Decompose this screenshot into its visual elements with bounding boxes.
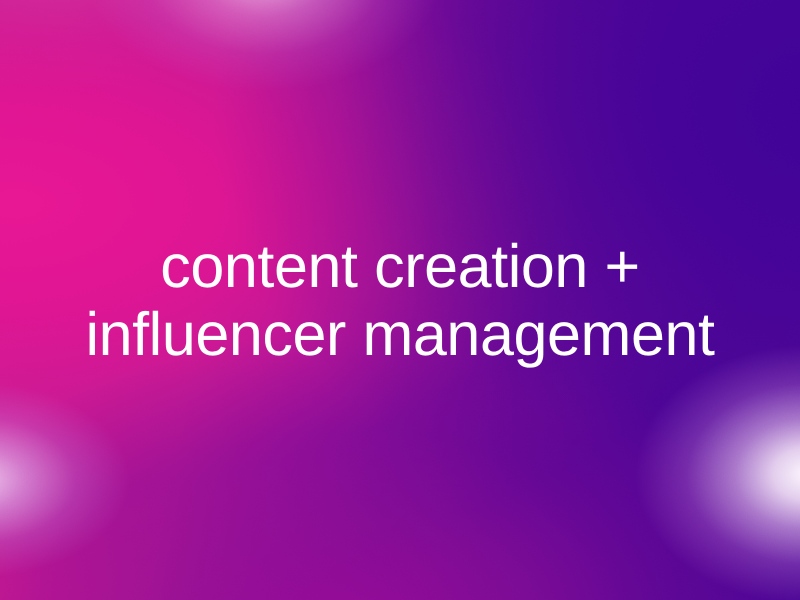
headline-line-2: influencer management — [85, 300, 714, 368]
gradient-banner: content creation + influencer management — [0, 0, 800, 600]
headline-line-1: content creation + — [160, 232, 639, 300]
headline-block: content creation + influencer management — [0, 0, 800, 600]
